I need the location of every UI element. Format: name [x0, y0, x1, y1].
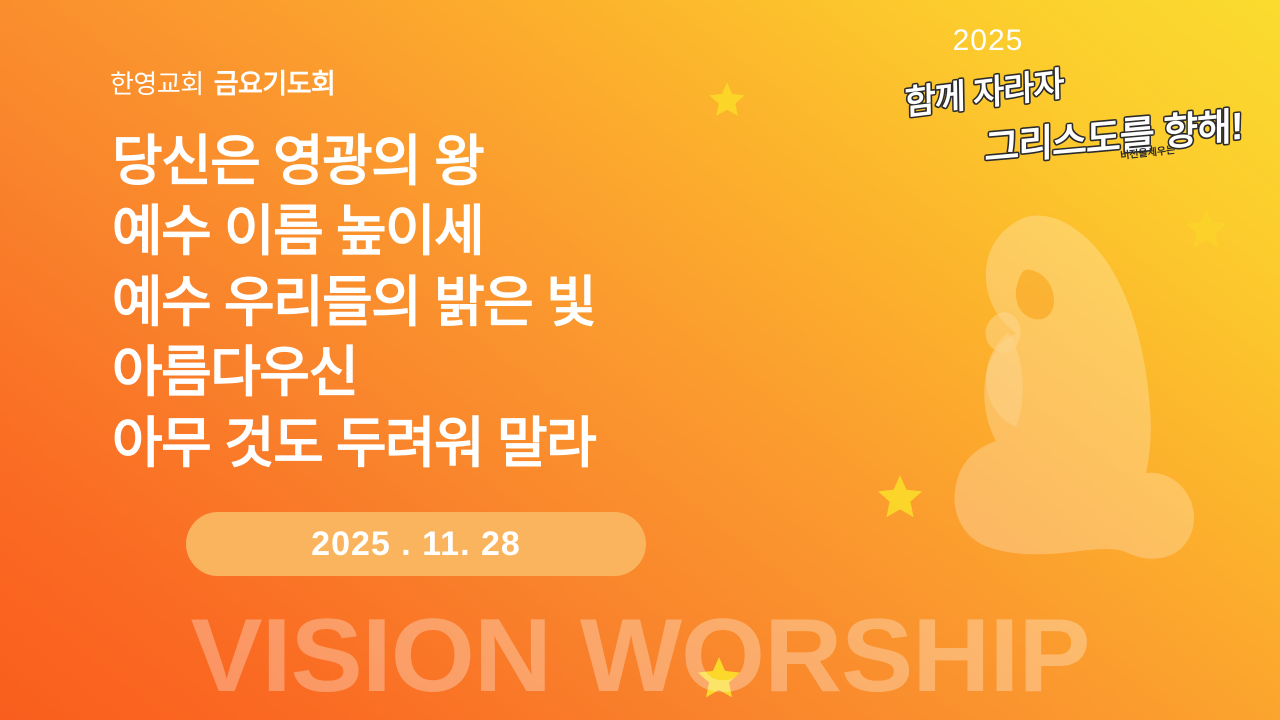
- star-top-center-icon: [708, 80, 746, 118]
- theme-slogan-calligraphy: 함께 자라자 그리스도를 향해! 비전을세우는: [888, 62, 1208, 158]
- date-badge: 2025 . 11. 28: [186, 512, 646, 576]
- star-mid-left-icon: [876, 472, 924, 520]
- star-right-upper-icon: [1184, 206, 1228, 250]
- song-line: 아무 것도 두려워 말라: [112, 408, 872, 478]
- worship-slide: VISION WORSHIP 한영교회 금요기도회 당신은 영광의 왕 예수 이…: [0, 0, 1280, 720]
- song-line: 예수 이름 높이세: [112, 196, 872, 266]
- church-name: 한영교회: [110, 64, 204, 101]
- song-list: 당신은 영광의 왕 예수 이름 높이세 예수 우리들의 밝은 빛 아름다우신 아…: [112, 126, 872, 478]
- star-bottom-icon: [696, 654, 742, 700]
- song-line: 당신은 영광의 왕: [112, 126, 872, 196]
- date-text: 2025 . 11. 28: [311, 525, 521, 564]
- praying-person-silhouette-icon: [930, 155, 1230, 575]
- service-name: 금요기도회: [214, 62, 336, 101]
- theme-block: 2025 함께 자라자 그리스도를 향해! 비전을세우는: [888, 24, 1208, 158]
- song-line: 예수 우리들의 밝은 빛: [112, 267, 872, 337]
- header: 한영교회 금요기도회: [110, 62, 335, 101]
- theme-year: 2025: [768, 24, 1208, 58]
- song-line: 아름다우신: [112, 337, 872, 407]
- watermark-vision-worship: VISION WORSHIP: [0, 607, 1280, 706]
